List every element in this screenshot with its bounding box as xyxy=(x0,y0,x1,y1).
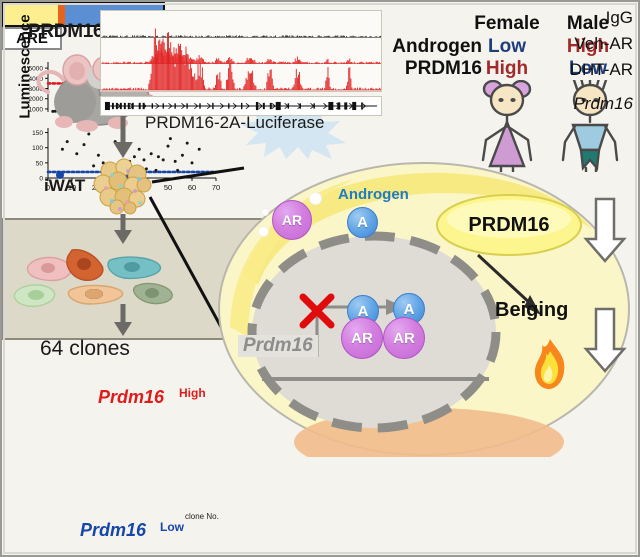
chip-track-label-dht-ar: DHT-AR xyxy=(546,60,638,80)
vesicle-dot-icon xyxy=(309,192,322,205)
androgen-receptor-bound-icon-1: AR xyxy=(341,317,383,359)
row-label-androgen: Androgen xyxy=(372,37,482,56)
scientific-figure-panel: PRDM16-Luc-KI reporter mice xyxy=(0,0,640,557)
y-axis-label: Luminescence xyxy=(17,2,34,132)
value-female-androgen: Low xyxy=(467,37,547,56)
inhibition-x-icon xyxy=(299,293,335,329)
prdm16-low-superscript: Low xyxy=(160,521,184,533)
beiging-label: Beiging xyxy=(495,300,568,320)
vesicle-dot-icon xyxy=(261,208,269,216)
construct-label: PRDM16-2A-Luciferase xyxy=(145,114,325,131)
row-label-prdm16: PRDM16 xyxy=(372,59,482,78)
androgen-molecule-free-icon: A xyxy=(347,207,378,238)
androgen-receptor-bound-icon-2: AR xyxy=(383,317,425,359)
column-header-female: Female xyxy=(467,14,547,33)
chip-signal-tracks xyxy=(100,10,382,92)
x-axis-label: clone No. xyxy=(185,513,219,521)
prdm16-oval-label: PRDM16 xyxy=(454,215,564,235)
androgen-label: Androgen xyxy=(338,187,409,202)
chip-track-label-igg: IgG xyxy=(546,8,638,28)
chip-gene-label: Prdm16 xyxy=(546,94,638,114)
androgen-receptor-free-icon: AR xyxy=(272,200,312,240)
gene-model-track xyxy=(100,96,382,116)
prdm16-gene-label: Prdm16 xyxy=(238,335,318,357)
prdm16-high-superscript: High xyxy=(179,387,206,399)
prdm16-high-label: Prdm16 xyxy=(98,388,164,406)
value-female-prdm16: High xyxy=(467,59,547,78)
vesicle-dot-icon xyxy=(258,226,269,237)
prdm16-low-label: Prdm16 xyxy=(80,521,146,539)
chip-track-label-veh-ar: Veh-AR xyxy=(546,34,638,54)
